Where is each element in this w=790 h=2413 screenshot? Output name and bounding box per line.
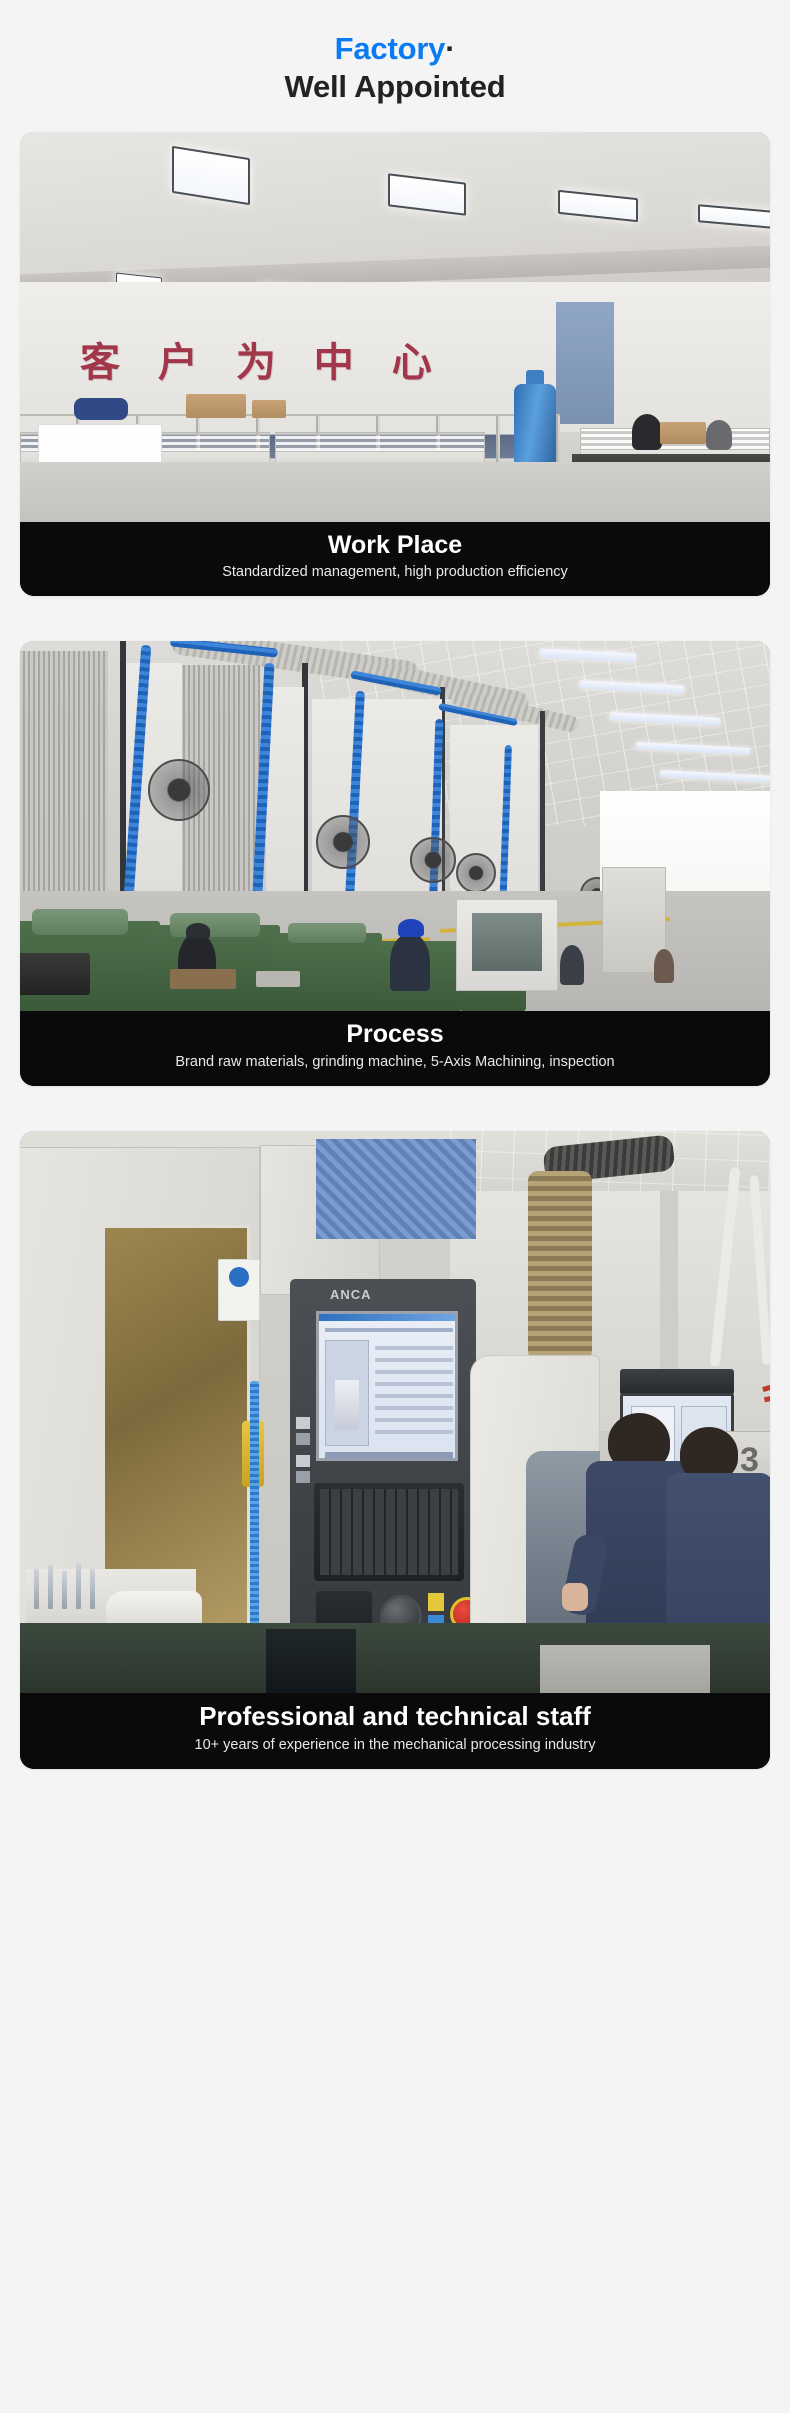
card-professional-staff[interactable]: ANCA [20, 1131, 770, 1769]
grinding-machine-head [32, 909, 128, 935]
seated-staff [706, 420, 732, 450]
keypad-keys[interactable] [320, 1489, 458, 1575]
safety-sign [218, 1259, 260, 1321]
factory-showcase-page: Factory· Well Appointed [0, 0, 790, 2413]
caption-subtitle: Brand raw materials, grinding machine, 5… [30, 1052, 760, 1072]
photo-work-place: 客 户 为 中 心 [20, 132, 770, 522]
seated-staff [632, 414, 662, 450]
indicator-light-yellow [428, 1593, 444, 1611]
machine-brand-label: ANCA [330, 1287, 390, 1303]
caption-subtitle: 10+ years of experience in the mechanica… [30, 1735, 760, 1755]
floor-shadow-block [266, 1629, 356, 1693]
floor-tray [256, 971, 300, 987]
caption-title: Professional and technical staff [30, 1701, 760, 1733]
flexible-duct [528, 1171, 592, 1361]
card-work-place[interactable]: 客 户 为 中 心 [20, 132, 770, 597]
worker [654, 949, 674, 983]
floor-bin [20, 953, 90, 995]
desk-box [660, 422, 706, 444]
technician-hand [562, 1583, 588, 1611]
photo-professional-staff: ANCA [20, 1131, 770, 1693]
caption-subtitle: Standardized management, high production… [30, 562, 760, 582]
partition-white-panel [38, 424, 162, 464]
cutting-tool [34, 1569, 39, 1609]
worker-hair [186, 923, 210, 939]
caption-title: Work Place [30, 530, 760, 561]
wall-slogan-text: 客 户 为 中 心 [80, 330, 444, 388]
white-cloth [106, 1591, 202, 1627]
cutting-tool [62, 1571, 67, 1609]
caption-title: Process [30, 1019, 760, 1050]
blue-wall-panel [556, 302, 614, 424]
office-floor [20, 462, 770, 522]
worker [390, 933, 430, 991]
control-cabinet-window [472, 913, 542, 971]
panel-indicator [296, 1471, 310, 1483]
cnc-screen [316, 1311, 458, 1461]
page-title: Factory· Well Appointed [0, 0, 790, 132]
panel-indicator [296, 1455, 310, 1467]
page-title-line-2: Well Appointed [0, 68, 790, 106]
blue-backdrop [316, 1139, 476, 1239]
wall-fan [148, 759, 210, 821]
worker [560, 945, 584, 985]
cutting-tool [90, 1569, 95, 1609]
screen-param-row [375, 1430, 453, 1434]
cubicle-glass-panel [275, 432, 485, 452]
caption-professional-staff: Professional and technical staff 10+ yea… [20, 1693, 770, 1769]
grinding-machine-head [170, 913, 260, 937]
screen-toolbar [325, 1328, 453, 1332]
grinding-machine-head [288, 923, 366, 943]
second-panel-top [620, 1369, 734, 1395]
cardboard-box [186, 394, 246, 418]
page-title-separator-dot: · [445, 31, 455, 66]
safety-sign-icon [229, 1267, 249, 1287]
machine-base [540, 1645, 710, 1693]
screen-param-row [375, 1358, 453, 1362]
screen-tool-preview [335, 1380, 359, 1430]
page-title-line-1: Factory· [0, 30, 790, 68]
panel-indicator [296, 1433, 310, 1445]
card-list: 客 户 为 中 心 [0, 132, 790, 1770]
office-item [74, 398, 128, 420]
cutting-tool [48, 1565, 53, 1609]
screen-param-row [375, 1418, 453, 1422]
wooden-pallet [170, 969, 236, 989]
page-title-accent-word: Factory [335, 31, 446, 66]
screen-param-row [375, 1370, 453, 1374]
screen-status-bar [325, 1452, 453, 1459]
panel-indicator [296, 1417, 310, 1429]
photo-process [20, 641, 770, 1011]
cardboard-box [252, 400, 286, 418]
cnc-keypad [314, 1483, 464, 1581]
cutting-tool [76, 1563, 81, 1609]
caption-work-place: Work Place Standardized management, high… [20, 522, 770, 597]
screen-title-bar [319, 1314, 455, 1321]
card-process[interactable]: Process Brand raw materials, grinding ma… [20, 641, 770, 1086]
screen-param-row [375, 1382, 453, 1386]
worker-blue-cap [398, 919, 424, 937]
caption-process: Process Brand raw materials, grinding ma… [20, 1011, 770, 1086]
screen-param-row [375, 1406, 453, 1410]
screen-param-row [375, 1394, 453, 1398]
screen-param-row [375, 1346, 453, 1350]
